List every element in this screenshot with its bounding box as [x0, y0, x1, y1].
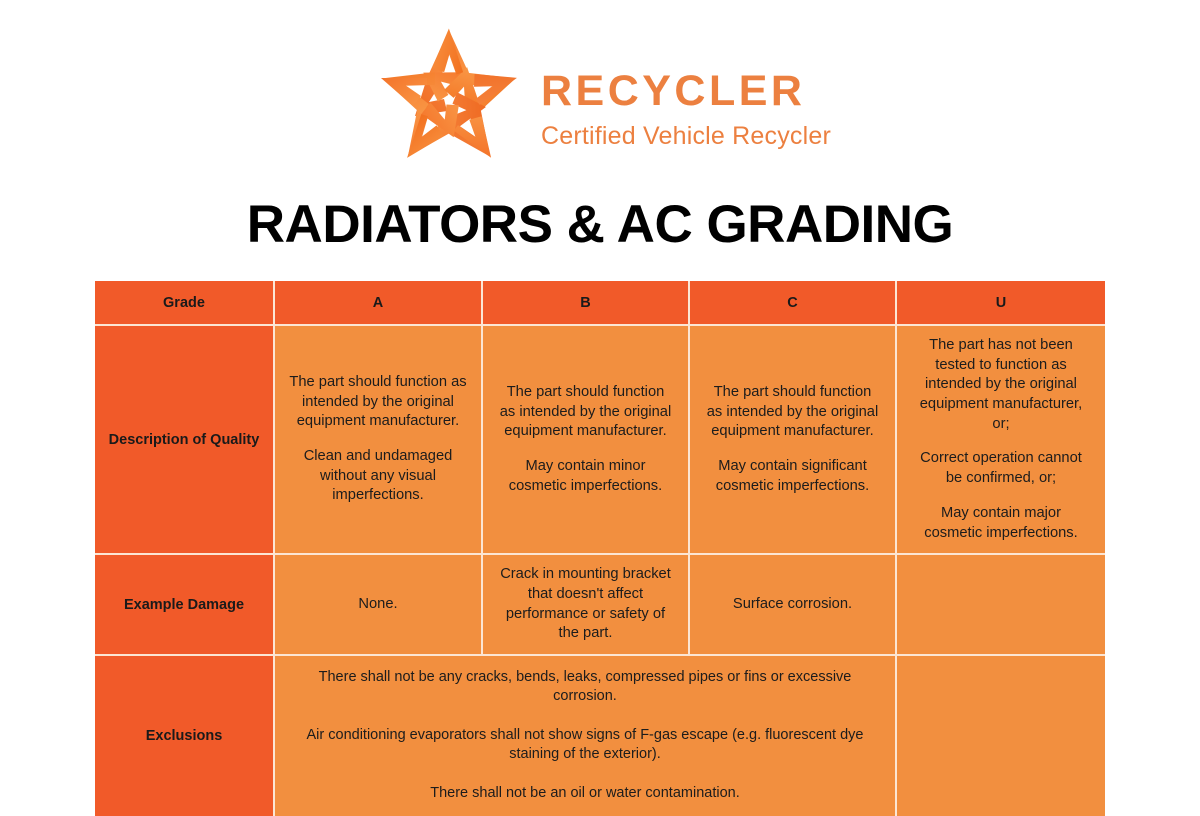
- cell-paragraph: The part has not been tested to function…: [911, 336, 1091, 434]
- brand-logo-text: RECYCLER Certified Vehicle Recycler: [541, 52, 831, 149]
- cell-damage-c: Surface corrosion.: [690, 555, 897, 656]
- cell-paragraph: The part should function as intended by …: [289, 373, 467, 432]
- page-title: RADIATORS & AC GRADING: [0, 196, 1200, 254]
- cell-paragraph: May contain major cosmetic imperfections…: [911, 504, 1091, 543]
- cell-paragraph: Surface corrosion.: [704, 595, 881, 615]
- brand-tagline: Certified Vehicle Recycler: [541, 124, 831, 149]
- cell-description-c: The part should function as intended by …: [690, 326, 897, 555]
- cell-paragraph: May contain significant cosmetic imperfe…: [704, 457, 881, 496]
- cell-exclusions-u: [897, 656, 1105, 816]
- recycling-star-logo-icon: [369, 28, 529, 173]
- brand-name: RECYCLER: [541, 70, 831, 113]
- cell-paragraph: Correct operation cannot be confirmed, o…: [911, 449, 1091, 488]
- column-header-c: C: [690, 281, 897, 326]
- cell-damage-a: None.: [275, 555, 483, 656]
- column-header-a: A: [275, 281, 483, 326]
- column-header-u: U: [897, 281, 1105, 326]
- column-header-b: B: [483, 281, 690, 326]
- cell-paragraph: The part should function as intended by …: [704, 383, 881, 442]
- table-header-row: Grade A B C U: [95, 281, 1105, 326]
- cell-description-a: The part should function as intended by …: [275, 326, 483, 555]
- table-row: Example Damage None. Crack in mounting b…: [95, 555, 1105, 656]
- cell-description-b: The part should function as intended by …: [483, 326, 690, 555]
- cell-damage-b: Crack in mounting bracket that doesn't a…: [483, 555, 690, 656]
- cell-paragraph: The part should function as intended by …: [497, 383, 674, 442]
- table-row: Description of Quality The part should f…: [95, 326, 1105, 555]
- row-header-example-damage: Example Damage: [95, 555, 275, 656]
- document-page: RECYCLER Certified Vehicle Recycler RADI…: [0, 0, 1200, 800]
- row-header-description-of-quality: Description of Quality: [95, 326, 275, 555]
- cell-damage-u: [897, 555, 1105, 656]
- cell-exclusions-merged: There shall not be any cracks, bends, le…: [275, 656, 897, 816]
- row-header-exclusions: Exclusions: [95, 656, 275, 816]
- grading-table: Grade A B C U Description of Quality The…: [95, 281, 1105, 816]
- cell-paragraph: Crack in mounting bracket that doesn't a…: [497, 565, 674, 644]
- cell-paragraph: Air conditioning evaporators shall not s…: [297, 726, 873, 764]
- cell-paragraph: There shall not be an oil or water conta…: [297, 784, 873, 803]
- column-header-grade: Grade: [95, 281, 275, 326]
- cell-paragraph: None.: [289, 595, 467, 615]
- cell-paragraph: Clean and undamaged without any visual i…: [289, 447, 467, 506]
- cell-description-u: The part has not been tested to function…: [897, 326, 1105, 555]
- brand-logo: RECYCLER Certified Vehicle Recycler: [0, 28, 1200, 173]
- cell-paragraph: There shall not be any cracks, bends, le…: [297, 668, 873, 706]
- table-row: Exclusions There shall not be any cracks…: [95, 656, 1105, 816]
- cell-paragraph: May contain minor cosmetic imperfections…: [497, 457, 674, 496]
